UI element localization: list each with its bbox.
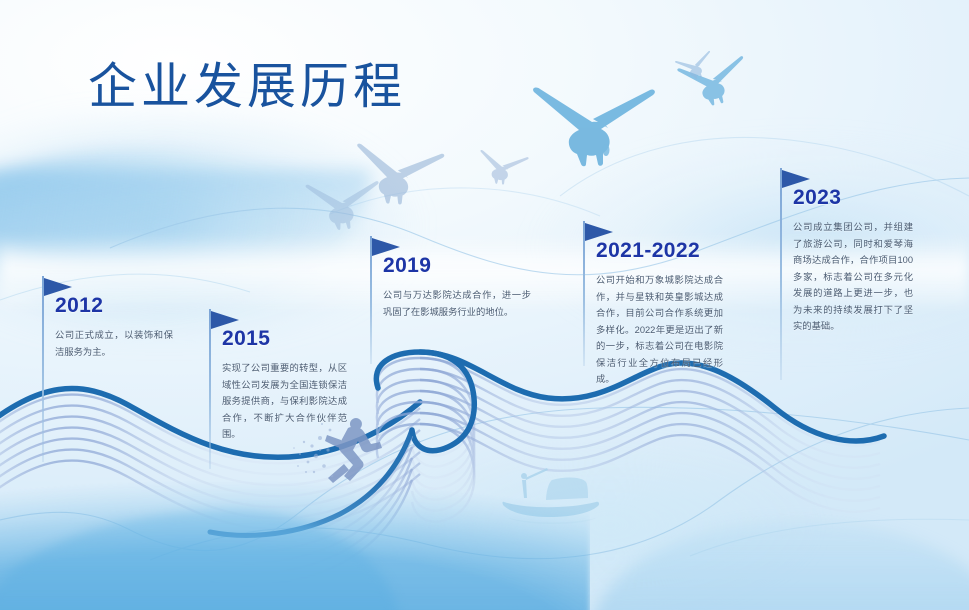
flag-pole [583,221,585,366]
milestone-year: 2015 [222,327,347,351]
milestone-2015[interactable]: 2015 实现了公司重要的转型，从区域性公司发展为全国连锁保洁服务提供商，与保利… [222,327,347,443]
flag-pole [209,309,211,469]
flag-pennant [585,223,613,241]
flag-pole [780,168,782,380]
cloud-wash-top-left-2 [0,150,340,270]
milestone-2019[interactable]: 2019 公司与万达影院达成合作，进一步巩固了在影城服务行业的地位。 [383,254,531,320]
milestone-description: 公司成立集团公司，并组建了旅游公司，同时和爱琴海商场达成合作，合作项目100多家… [793,219,913,335]
milestone-year: 2021-2022 [596,239,723,263]
milestone-description: 公司开始和万象城影院达成合作，并与星轶和英皇影城达成合作，目前公司合作系统更加多… [596,272,723,388]
flag-pennant [44,278,72,296]
milestone-description: 实现了公司重要的转型，从区域性公司发展为全国连锁保洁服务提供商，与保利影院达成合… [222,360,347,443]
milestone-description: 公司与万达影院达成合作，进一步巩固了在影城服务行业的地位。 [383,287,531,320]
milestone-2021-2022[interactable]: 2021-2022 公司开始和万象城影院达成合作，并与星轶和英皇影城达成合作，目… [596,239,723,388]
milestone-year: 2012 [55,294,173,318]
seagull-icon [351,143,444,209]
page-title: 企业发展历程 [88,62,406,113]
ink-wash-mountain-bottom-left [0,430,590,610]
fishing-boat-icon [494,458,614,528]
milestone-year: 2023 [793,186,913,210]
flag-pennant [782,170,810,188]
seagull-icon [305,180,381,232]
flag-pennant [372,238,400,256]
timeline-poster: 企业发展历程 2012 公司正式成立，以装饰和保洁服务为主。 2015 实现了公… [0,0,969,610]
flag-pennant [211,311,239,329]
ink-wash-mountain-bottom-left-2 [0,510,400,610]
seagull-icon [533,88,655,167]
milestone-2023[interactable]: 2023 公司成立集团公司，并组建了旅游公司，同时和爱琴海商场达成合作，合作项目… [793,186,913,335]
center-mist [330,430,890,610]
seagull-icon [476,150,529,188]
seagull-icon [675,50,717,84]
ink-wash-mountain-bottom-right [589,520,969,610]
milestone-year: 2019 [383,254,531,278]
seagull-icon [677,55,752,111]
milestone-description: 公司正式成立，以装饰和保洁服务为主。 [55,327,173,360]
milestone-2012[interactable]: 2012 公司正式成立，以装饰和保洁服务为主。 [55,294,173,360]
flag-pole [42,276,44,462]
